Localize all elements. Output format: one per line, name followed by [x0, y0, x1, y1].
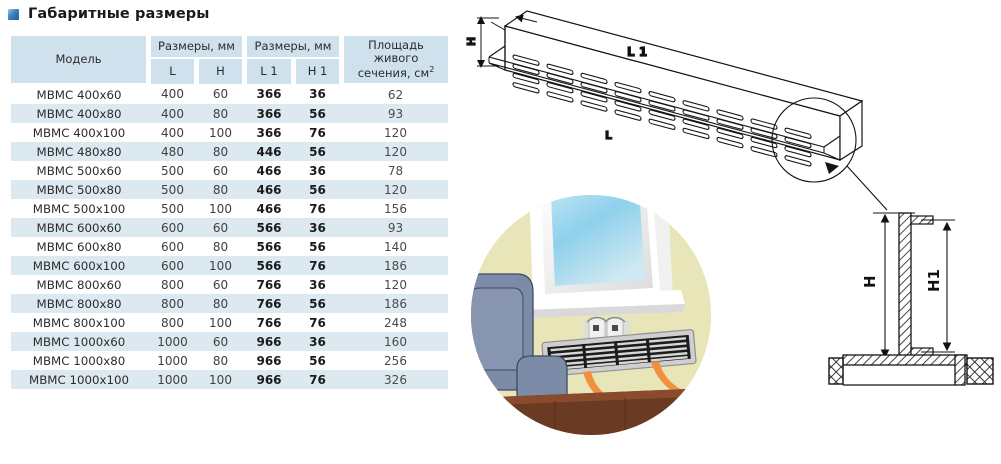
- cell-l: 1000: [150, 351, 195, 370]
- bullet-square-icon: [8, 9, 19, 20]
- table-row: МВМС 800x608006076636120: [11, 275, 448, 294]
- header-sub-h1: H 1: [295, 58, 340, 84]
- label-H1-section: H1: [925, 269, 943, 292]
- cell-l1: 446: [246, 142, 292, 161]
- table-row: МВМС 500x805008046656120: [11, 180, 448, 199]
- cell-l1: 366: [246, 84, 292, 104]
- header-free-area: Площадь живого сечения, см2: [343, 36, 448, 84]
- header-group-lh: Размеры, мм: [150, 36, 243, 58]
- table-row: МВМС 500x60500604663678: [11, 161, 448, 180]
- cell-l1: 766: [246, 294, 292, 313]
- table-row: МВМС 500x10050010046676156: [11, 199, 448, 218]
- cell-model: МВМС 500x100: [11, 199, 147, 218]
- cell-free-area: 248: [343, 313, 448, 332]
- table-body: МВМС 400x60400603663662МВМС 400x80400803…: [11, 84, 448, 389]
- cell-l1: 966: [246, 370, 292, 389]
- table-row: МВМС 1000x100100010096676326: [11, 370, 448, 389]
- cell-l: 400: [150, 84, 195, 104]
- cell-l1: 966: [246, 351, 292, 370]
- label-L-isometric: L: [605, 129, 612, 142]
- header-free-area-line1: Площадь живого: [368, 38, 424, 65]
- table-row: МВМС 400x10040010036676120: [11, 123, 448, 142]
- cell-l: 500: [150, 199, 195, 218]
- cell-l: 1000: [150, 370, 195, 389]
- cell-h1: 76: [295, 313, 340, 332]
- table-row: МВМС 800x10080010076676248: [11, 313, 448, 332]
- cell-l: 800: [150, 313, 195, 332]
- header-free-area-sup: 2: [429, 65, 434, 74]
- cell-l1: 366: [246, 104, 292, 123]
- cell-model: МВМС 800x60: [11, 275, 147, 294]
- cell-h1: 36: [295, 84, 340, 104]
- cell-h1: 56: [295, 237, 340, 256]
- vertical-section-drawing: H H1: [861, 213, 955, 359]
- page-title-text: Габаритные размеры: [28, 6, 209, 22]
- cell-l1: 966: [246, 332, 292, 351]
- cell-h: 60: [198, 84, 243, 104]
- header-sub-h: H: [198, 58, 243, 84]
- cell-l1: 566: [246, 256, 292, 275]
- cell-h: 100: [198, 256, 243, 275]
- cell-l1: 566: [246, 237, 292, 256]
- cell-free-area: 120: [343, 275, 448, 294]
- cell-free-area: 186: [343, 294, 448, 313]
- cell-free-area: 120: [343, 180, 448, 199]
- cell-free-area: 160: [343, 332, 448, 351]
- header-model: Модель: [11, 36, 147, 84]
- cell-free-area: 326: [343, 370, 448, 389]
- cell-l: 500: [150, 161, 195, 180]
- table-row: МВМС 400x60400603663662: [11, 84, 448, 104]
- cell-h1: 56: [295, 142, 340, 161]
- cell-h1: 76: [295, 199, 340, 218]
- cell-model: МВМС 600x60: [11, 218, 147, 237]
- header-sub-l: L: [150, 58, 195, 84]
- cell-l: 500: [150, 180, 195, 199]
- cell-h1: 36: [295, 161, 340, 180]
- cell-h1: 76: [295, 256, 340, 275]
- cell-l1: 366: [246, 123, 292, 142]
- cell-h1: 36: [295, 332, 340, 351]
- cell-h1: 56: [295, 294, 340, 313]
- table-row: МВМС 1000x6010006096636160: [11, 332, 448, 351]
- cell-h1: 76: [295, 123, 340, 142]
- cell-h: 80: [198, 104, 243, 123]
- graphics-panel: H L 1 L: [455, 0, 1001, 464]
- table-row: МВМС 600x10060010056676186: [11, 256, 448, 275]
- cell-model: МВМС 600x80: [11, 237, 147, 256]
- table-head: Модель Размеры, мм Размеры, мм Площадь ж…: [11, 36, 448, 84]
- header-free-area-line2: сечения, см: [358, 66, 430, 80]
- table-row: МВМС 480x804808044656120: [11, 142, 448, 161]
- header-group-l1h1: Размеры, мм: [246, 36, 340, 58]
- table-row: МВМС 1000x8010008096656256: [11, 351, 448, 370]
- cell-free-area: 120: [343, 123, 448, 142]
- cell-h: 80: [198, 237, 243, 256]
- cell-model: МВМС 1000x100: [11, 370, 147, 389]
- cell-l: 600: [150, 237, 195, 256]
- cell-free-area: 78: [343, 161, 448, 180]
- table-row: МВМС 600x806008056656140: [11, 237, 448, 256]
- header-sub-l1: L 1: [246, 58, 292, 84]
- cell-l1: 466: [246, 199, 292, 218]
- cell-l1: 566: [246, 218, 292, 237]
- cell-h1: 76: [295, 370, 340, 389]
- cell-model: МВМС 500x60: [11, 161, 147, 180]
- cell-h: 60: [198, 332, 243, 351]
- page-title: Габаритные размеры: [8, 6, 209, 22]
- cell-h1: 36: [295, 275, 340, 294]
- cell-l1: 766: [246, 313, 292, 332]
- cell-model: МВМС 480x80: [11, 142, 147, 161]
- label-L1-isometric: L 1: [627, 45, 647, 59]
- table-row: МВМС 800x808008076656186: [11, 294, 448, 313]
- horizontal-section-drawing: [829, 355, 993, 385]
- room-installation-illustration: [463, 170, 711, 440]
- cell-free-area: 140: [343, 237, 448, 256]
- cell-h: 60: [198, 218, 243, 237]
- cell-l: 1000: [150, 332, 195, 351]
- cell-free-area: 120: [343, 142, 448, 161]
- isometric-grille-drawing: H L 1 L: [465, 11, 887, 210]
- cell-h: 80: [198, 294, 243, 313]
- cell-l1: 466: [246, 161, 292, 180]
- cell-h: 100: [198, 313, 243, 332]
- cell-h: 80: [198, 180, 243, 199]
- cell-model: МВМС 400x60: [11, 84, 147, 104]
- cell-h: 100: [198, 123, 243, 142]
- spec-sheet-page: Габаритные размеры Модель: [0, 0, 1001, 464]
- cell-model: МВМС 1000x60: [11, 332, 147, 351]
- cell-h: 80: [198, 142, 243, 161]
- cell-l: 400: [150, 123, 195, 142]
- cell-free-area: 93: [343, 218, 448, 237]
- cell-model: МВМС 1000x80: [11, 351, 147, 370]
- cell-h: 100: [198, 199, 243, 218]
- cell-free-area: 62: [343, 84, 448, 104]
- dimensions-table-wrapper: Модель Размеры, мм Размеры, мм Площадь ж…: [11, 36, 448, 389]
- label-H-isometric: H: [465, 37, 478, 46]
- cell-model: МВМС 800x80: [11, 294, 147, 313]
- cell-free-area: 256: [343, 351, 448, 370]
- cell-free-area: 156: [343, 199, 448, 218]
- cell-h1: 56: [295, 180, 340, 199]
- cell-model: МВМС 400x100: [11, 123, 147, 142]
- cell-h: 80: [198, 351, 243, 370]
- cell-l: 800: [150, 275, 195, 294]
- cell-h: 100: [198, 370, 243, 389]
- table-row: МВМС 400x80400803665693: [11, 104, 448, 123]
- cell-model: МВМС 400x80: [11, 104, 147, 123]
- table-row: МВМС 600x60600605663693: [11, 218, 448, 237]
- header-row-group: Модель Размеры, мм Размеры, мм Площадь ж…: [11, 36, 448, 58]
- cell-h1: 56: [295, 351, 340, 370]
- cell-h1: 36: [295, 218, 340, 237]
- cell-model: МВМС 600x100: [11, 256, 147, 275]
- cell-l: 600: [150, 256, 195, 275]
- cell-model: МВМС 500x80: [11, 180, 147, 199]
- cell-h: 60: [198, 161, 243, 180]
- cell-l: 600: [150, 218, 195, 237]
- cell-l1: 466: [246, 180, 292, 199]
- cell-model: МВМС 800x100: [11, 313, 147, 332]
- cell-l: 480: [150, 142, 195, 161]
- cell-free-area: 93: [343, 104, 448, 123]
- cell-l: 800: [150, 294, 195, 313]
- dimensions-table: Модель Размеры, мм Размеры, мм Площадь ж…: [11, 36, 448, 389]
- cell-free-area: 186: [343, 256, 448, 275]
- cell-l: 400: [150, 104, 195, 123]
- label-H-section: H: [861, 275, 879, 288]
- cell-h1: 56: [295, 104, 340, 123]
- cell-h: 60: [198, 275, 243, 294]
- cell-l1: 766: [246, 275, 292, 294]
